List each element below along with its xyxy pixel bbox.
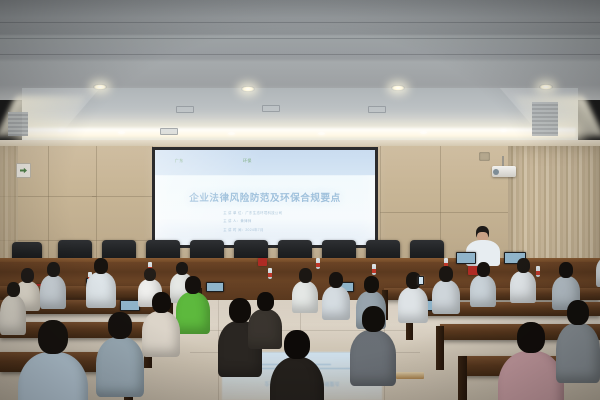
attendee-center-woman-head — [229, 298, 251, 323]
ceiling-vent — [262, 105, 280, 112]
exit-sign-icon — [16, 163, 31, 178]
attendee-right-4-torso — [432, 280, 460, 314]
desk-monitor — [120, 300, 140, 311]
notebook-on-desk — [396, 372, 424, 379]
ceiling-spot — [58, 129, 65, 132]
ceiling-spot — [228, 132, 235, 135]
red-placard — [258, 258, 267, 266]
ceiling-spot — [420, 131, 427, 134]
water-bottle — [316, 258, 320, 269]
ceiling-spot — [118, 131, 125, 134]
desk-leg — [436, 326, 444, 370]
attendee-mid-right-1-head — [299, 268, 312, 283]
ceiling-seam — [0, 38, 600, 39]
monitor-screen — [207, 283, 223, 291]
attendee-white-mid-head — [144, 268, 156, 281]
ceiling-tray-inner — [62, 88, 538, 132]
attendee-police-front-head — [38, 320, 68, 354]
attendee-stripe-shirt-head — [152, 292, 171, 313]
slide-title: 企业法律风险防范及环保合规要点 — [155, 190, 375, 204]
attendee-row3-left-2-torso — [40, 275, 66, 309]
desk-monitor — [206, 282, 224, 292]
projection-screen: 广东 环保 企业法律风险防范及环保合规要点 主 讲 单 位：广东生态环境科技公司… — [155, 150, 375, 245]
wall-speaker-icon — [479, 152, 490, 161]
water-bottle — [268, 268, 272, 279]
attendee-phone-user-torso — [398, 287, 428, 323]
ceiling-downlight — [241, 86, 255, 92]
attendee-green-shirt-head — [185, 276, 201, 294]
slide-tag-left: 广东 — [175, 158, 184, 164]
attendee-right-6-torso — [510, 271, 536, 303]
attendee-green-shirt-torso — [176, 292, 210, 334]
slide-header-band — [155, 150, 375, 175]
monitor-screen — [121, 301, 139, 310]
attendee-row3-left-2-head — [47, 262, 60, 277]
slide-meta-line-3: 主 讲 时 间：2024年7月 — [223, 227, 264, 232]
desk-leg — [458, 356, 467, 400]
monitor-screen — [457, 253, 475, 263]
attendee-gray-mid-torso — [350, 330, 396, 386]
wall-panel-seam — [96, 146, 97, 276]
attendee-right-front-2-head — [567, 300, 589, 325]
ceiling-vent — [176, 106, 194, 113]
water-bottle — [536, 266, 540, 277]
attendee-right-7-head — [559, 262, 573, 278]
attendee-mid-right-1-torso — [292, 281, 318, 313]
attendee-right-5-head — [477, 262, 490, 277]
attendee-mid-right-3-head — [364, 276, 379, 293]
attendee-right-4-head — [439, 266, 453, 282]
attendee-right-5-torso — [470, 275, 496, 307]
attendee-row3-left-3-torso — [86, 272, 116, 308]
projector-lens-icon — [493, 169, 499, 175]
ceiling-seam — [0, 54, 600, 55]
attendee-gray-mid-head — [362, 306, 385, 332]
attendee-row2-center-head — [176, 262, 188, 275]
air-vent-grille — [8, 112, 28, 136]
ceiling-downlight — [539, 84, 553, 90]
projection-screen-frame: 广东 环保 企业法律风险防范及环保合规要点 主 讲 单 位：广东生态环境科技公司… — [152, 147, 378, 248]
attendee-row1-left-head — [108, 312, 132, 339]
cove-light-strip — [24, 128, 576, 137]
slide-tag-right: 环保 — [243, 158, 252, 164]
attendee-center-back-head — [257, 292, 274, 311]
attendee-mid-right-2-head — [329, 272, 343, 288]
ceiling-vent — [160, 128, 178, 135]
ceiling-downlight — [93, 84, 107, 90]
attendee-row3-left-1-head — [21, 268, 34, 283]
attendee-row3-left-3-head — [94, 258, 108, 274]
attendee-far-left-edge-torso — [0, 295, 26, 335]
attendee-center-back-torso — [248, 309, 282, 349]
slide-meta-line-2: 主 讲 人：黄律师 — [223, 218, 251, 223]
wall-panel-seam — [380, 212, 508, 213]
attendee-far-left-edge-head — [7, 282, 20, 297]
attendee-row1-left-torso — [96, 337, 144, 397]
smartphone — [418, 276, 424, 285]
air-vent-grille — [532, 102, 558, 136]
attendee-right-6-head — [517, 258, 530, 273]
conference-room-photo: 广东 环保 企业法律风险防范及环保合规要点 主 讲 单 位：广东生态环境科技公司… — [0, 0, 600, 400]
ceiling-vent — [368, 106, 386, 113]
attendee-dark-front-head — [284, 330, 310, 359]
attendee-right-front-2-torso — [556, 323, 600, 383]
water-bottle — [372, 264, 376, 275]
wall-panel-seam — [48, 146, 49, 276]
ceiling-downlight — [391, 85, 405, 91]
attendee-stripe-shirt-torso — [142, 311, 180, 357]
podium-monitor — [456, 252, 476, 264]
slide-meta-line-1: 主 讲 单 位：广东生态环境科技公司 — [223, 210, 282, 215]
attendee-pink-front-head — [517, 322, 545, 353]
ceiling-spot — [500, 129, 507, 132]
ceiling-seam — [0, 22, 600, 23]
attendee-mid-right-2-torso — [322, 286, 350, 320]
ceiling-spot — [318, 132, 325, 135]
ceiling — [0, 0, 600, 100]
